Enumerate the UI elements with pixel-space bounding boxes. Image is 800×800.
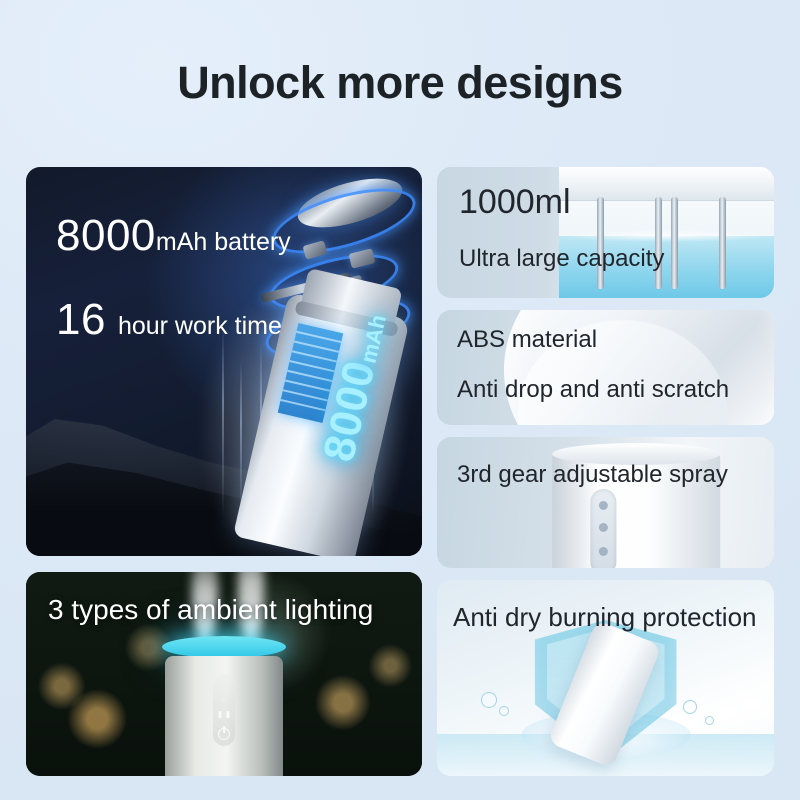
dryburn-lead: Anti dry burning protection [453, 602, 757, 633]
bubble-1 [481, 692, 497, 708]
card-capacity[interactable]: 1000ml Ultra large capacity [437, 167, 774, 298]
bubble-4 [705, 716, 714, 725]
lighting-lead: 3 types of ambient lighting [48, 594, 373, 626]
battery-capacity-unit: mAh battery [156, 228, 291, 257]
tank-tube-3 [671, 197, 678, 289]
material-sub: Anti drop and anti scratch [457, 376, 729, 404]
tank-tube-4 [719, 197, 726, 289]
spray-control-strip [590, 489, 616, 568]
page-title: Unlock more designs [0, 57, 800, 109]
battery-capacity-line: 8000 mAh battery [56, 211, 291, 261]
spray-power-icon [598, 547, 607, 556]
card-dryburn[interactable]: Anti dry burning protection [437, 580, 774, 776]
mist-mode-icon [219, 711, 230, 718]
humidifier-glow-top [162, 636, 286, 658]
neon-capacity-unit: mAh [356, 312, 391, 365]
tank-tube-2 [655, 197, 662, 289]
bubble-3 [683, 700, 697, 714]
tank-lid [559, 167, 774, 201]
infographic-board: Unlock more designs [0, 0, 800, 800]
spray-indicator-2 [598, 523, 607, 532]
battery-worktime-value: 16 [56, 295, 106, 345]
spray-lead: 3rd gear adjustable spray [457, 461, 728, 489]
battery-text-block: 8000 mAh battery 16 hour work time [56, 211, 291, 345]
bubble-2 [499, 706, 509, 716]
mode-indicator-2 [222, 697, 227, 702]
battery-worktime-line: 16 hour work time [56, 295, 291, 345]
spray-indicator-1 [598, 501, 607, 510]
water-tank-art [559, 167, 774, 298]
tank-tube-1 [597, 197, 604, 289]
material-lead: ABS material [457, 326, 597, 354]
battery-worktime-unit: hour work time [118, 312, 282, 341]
card-battery[interactable]: 8000mAh 8000 mAh battery 16 hour work ti… [26, 167, 422, 556]
battery-capacity-value: 8000 [56, 211, 156, 261]
capacity-sub: Ultra large capacity [459, 245, 664, 273]
card-material[interactable]: ABS material Anti drop and anti scratch [437, 310, 774, 425]
capacity-lead: 1000ml [459, 183, 571, 222]
power-icon [218, 728, 230, 740]
mode-indicator-1 [222, 685, 227, 690]
card-lighting[interactable]: 3 types of ambient lighting [26, 572, 422, 776]
card-spray[interactable]: 3rd gear adjustable spray [437, 437, 774, 568]
